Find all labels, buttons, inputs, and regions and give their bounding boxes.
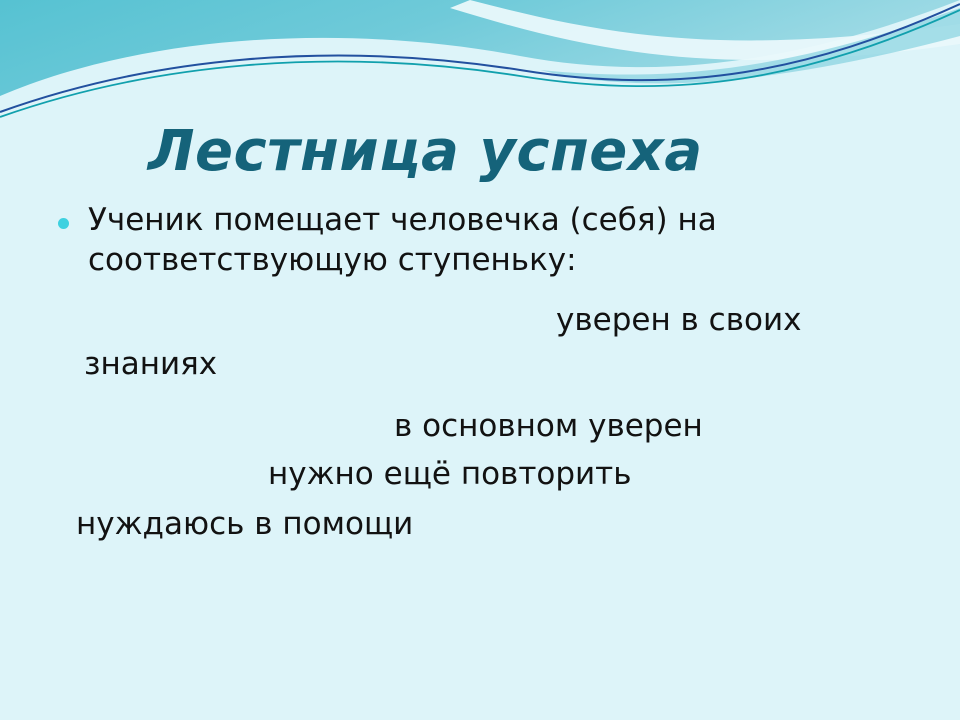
banner-line-blue: [0, 4, 960, 112]
banner-ribbon-pale-lower: [0, 0, 960, 118]
step-label-mostly-confident: в основном уверен: [0, 404, 960, 448]
step-label-need-help: нуждаюсь в помощи: [0, 502, 960, 546]
step-label-need-review: нужно ещё повторить: [0, 452, 960, 496]
wave-banner: [0, 0, 960, 118]
banner-line-teal: [0, 10, 960, 117]
bullet-dot-icon: [58, 218, 69, 229]
slide-title: Лестница успеха: [148, 119, 848, 185]
banner-base-fill: [0, 0, 960, 118]
step-label-confident: уверен в своих: [0, 298, 960, 342]
banner-ribbon-pale-upper: [450, 0, 960, 60]
bullet-item: Ученик помещает человечка (себя) на соот…: [0, 200, 848, 280]
step-label-confident-cont: знаниях: [0, 342, 960, 386]
bullet-item-text: Ученик помещает человечка (себя) на соот…: [88, 202, 717, 278]
slide-body: Ученик помещает человечка (себя) на соот…: [0, 200, 960, 546]
presentation-slide: Лестница успеха Ученик помещает человечк…: [0, 0, 960, 720]
banner-overlay-band: [540, 8, 960, 83]
